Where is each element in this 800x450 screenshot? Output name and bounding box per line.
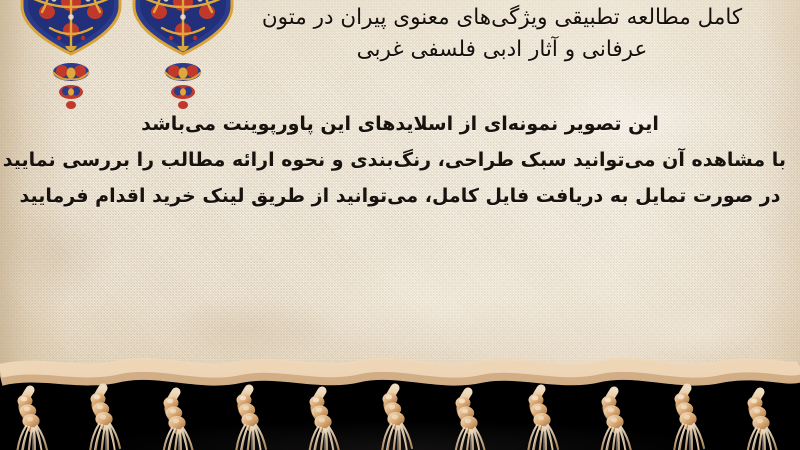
slide-body-line-1: این تصویر نمونه‌ای از اسلایدهای این پاور… [14,106,786,142]
slide-body-line-2: با مشاهده آن می‌توانید سبک طراحی، رنگ‌بن… [14,142,786,178]
slide-body-text: این تصویر نمونه‌ای از اسلایدهای این پاور… [14,106,786,214]
carpet-fringe-zone [0,352,800,450]
slide-title-line-1: کامل مطالعه تطبیقی ویژگی‌های معنوی پیران… [222,2,782,33]
slide-title-line-2: عرفانی و آثار ادبی فلسفی غربی [222,34,782,65]
fringe-tassels [17,388,777,450]
fringe-selvedge-cord [0,365,800,376]
slide-body-line-3: در صورت تمایل به دریافت فایل کامل، می‌تو… [14,178,786,214]
slide-title: کامل مطالعه تطبیقی ویژگی‌های معنوی پیران… [222,2,782,65]
slide-canvas: کامل مطالعه تطبیقی ویژگی‌های معنوی پیران… [0,0,800,450]
slide-text-layer: کامل مطالعه تطبیقی ویژگی‌های معنوی پیران… [0,0,800,378]
